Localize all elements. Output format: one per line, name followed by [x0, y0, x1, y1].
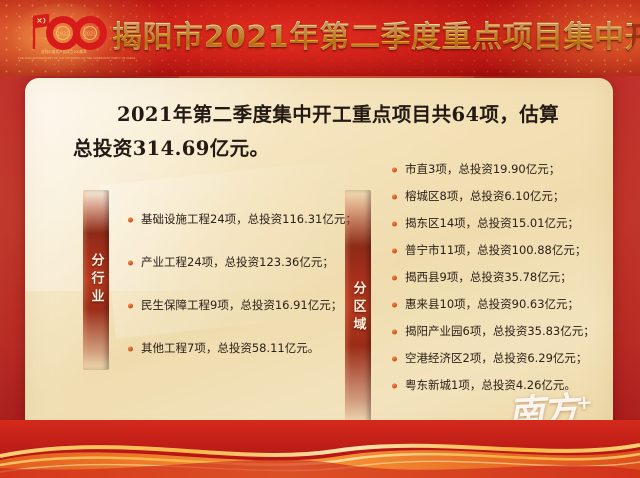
- list-item: 揭阳产业园6项，总投资35.83亿元；: [391, 318, 595, 345]
- bullet-dot-icon: [392, 194, 397, 199]
- bullet-dot-icon: [128, 346, 133, 351]
- watermark-plus: +: [575, 390, 593, 415]
- bullet-dot-icon: [128, 217, 133, 222]
- bullet-dot-icon: [392, 221, 397, 226]
- emblem-caption-en: THE 100th ANNIVERSARY OF THE FOUNDING OF…: [18, 56, 110, 61]
- by-industry-ribbon: 分行业: [83, 190, 109, 370]
- list-item-label: 民生保障工程9项，总投资16.91亿元；: [141, 298, 342, 312]
- list-item: 其他工程7项，总投资58.11亿元。: [127, 327, 357, 370]
- bullet-dot-icon: [392, 248, 397, 253]
- list-item: 揭东区14项，总投资15.01亿元；: [391, 210, 595, 237]
- list-item: 基础设施工程24项，总投资116.31亿元；: [127, 198, 357, 241]
- bullet-dot-icon: [128, 303, 133, 308]
- by-region-ribbon-label: 分区域: [349, 281, 368, 335]
- poster-root: 1921 2021 庆祝中国共产党成立100周年 THE 100th ANNIV…: [0, 0, 640, 478]
- bullet-dot-icon: [128, 260, 133, 265]
- list-item-label: 揭阳产业园6项，总投资35.83亿元；: [405, 324, 595, 338]
- list-item-label: 普宁市11项，总投资100.88亿元；: [405, 243, 586, 257]
- list-item: 惠来县10项，总投资90.63亿元；: [391, 291, 595, 318]
- list-item: 普宁市11项，总投资100.88亿元；: [391, 237, 595, 264]
- list-item-label: 揭西县9项，总投资35.78亿元；: [405, 270, 572, 284]
- list-item-label: 产业工程24项，总投资123.36亿元；: [141, 255, 334, 269]
- bottom-ribbon-decoration: [0, 420, 640, 478]
- bullet-dot-icon: [392, 383, 397, 388]
- page-title: 揭阳市2021年第二季度重点项目集中开工活动: [112, 15, 632, 61]
- list-item-label: 空港经济区2项，总投资6.29亿元；: [405, 351, 587, 365]
- list-item-label: 其他工程7项，总投资58.11亿元。: [141, 341, 319, 355]
- by-industry-list: 基础设施工程24项，总投资116.31亿元； 产业工程24项，总投资123.36…: [127, 198, 357, 370]
- ribbon-waves-artwork: [0, 420, 640, 478]
- list-item: 市直3项，总投资19.90亿元；: [391, 156, 595, 183]
- list-item-label: 榕城区8项，总投资6.10亿元；: [405, 189, 564, 203]
- svg-text:2021: 2021: [84, 32, 97, 38]
- by-industry-ribbon-label: 分行业: [87, 253, 106, 307]
- list-item: 产业工程24项，总投资123.36亿元；: [127, 241, 357, 284]
- list-item: 揭西县9项，总投资35.78亿元；: [391, 264, 595, 291]
- list-item: 民生保障工程9项，总投资16.91亿元；: [127, 284, 357, 327]
- bullet-dot-icon: [392, 302, 397, 307]
- list-item-label: 惠来县10项，总投资90.63亿元；: [405, 297, 579, 311]
- cpc-100th-anniversary-emblem-icon: 1921 2021 庆祝中国共产党成立100周年 THE 100th ANNIV…: [14, 9, 112, 69]
- svg-text:1921: 1921: [57, 32, 70, 38]
- bullet-dot-icon: [392, 329, 397, 334]
- emblem-caption-cn: 庆祝中国共产党成立100周年: [18, 50, 110, 55]
- bullet-dot-icon: [392, 356, 397, 361]
- list-item: 空港经济区2项，总投资6.29亿元；: [391, 345, 595, 372]
- content-card: 2021年第二季度集中开工重点项目共64项，估算总投资314.69亿元。 分行业…: [25, 78, 613, 445]
- list-item-label: 市直3项，总投资19.90亿元；: [405, 162, 560, 176]
- list-item-label: 基础设施工程24项，总投资116.31亿元；: [141, 212, 357, 226]
- bullet-dot-icon: [392, 275, 397, 280]
- list-item-label: 揭东区14项，总投资15.01亿元；: [405, 216, 579, 230]
- header-banner: 1921 2021 庆祝中国共产党成立100周年 THE 100th ANNIV…: [0, 0, 640, 76]
- list-item: 榕城区8项，总投资6.10亿元；: [391, 183, 595, 210]
- by-region-list: 市直3项，总投资19.90亿元； 榕城区8项，总投资6.10亿元； 揭东区14项…: [391, 156, 595, 399]
- bullet-dot-icon: [392, 167, 397, 172]
- by-region-ribbon: 分区域: [345, 190, 371, 426]
